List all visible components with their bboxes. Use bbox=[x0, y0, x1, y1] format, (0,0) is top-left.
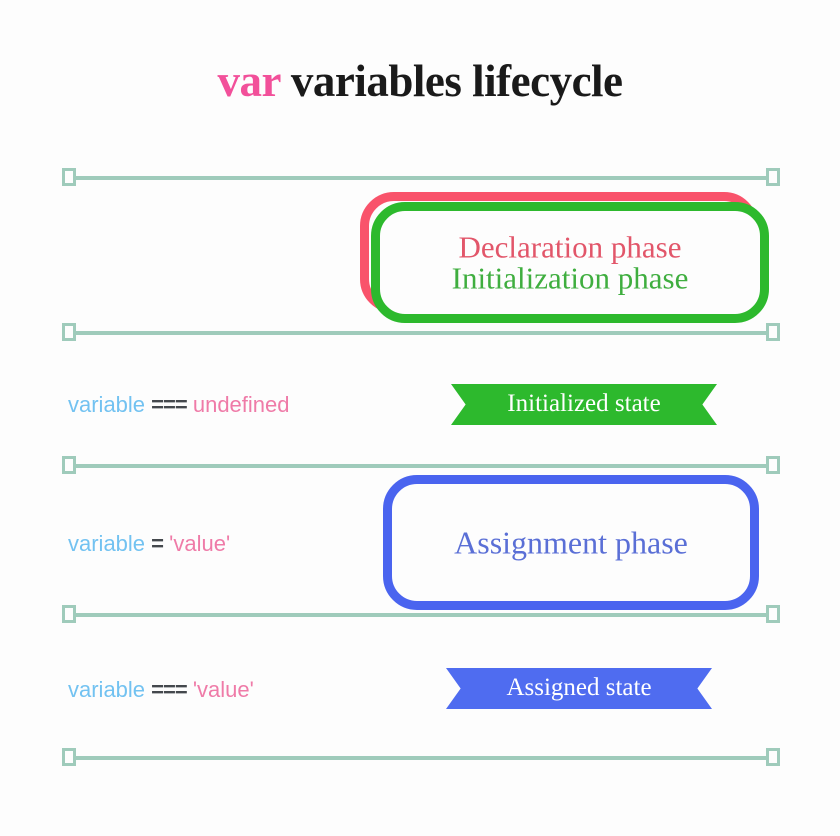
initialization-phase-label: Initialization phase bbox=[380, 263, 760, 295]
rail-line bbox=[71, 613, 771, 617]
banner-label: Assigned state bbox=[506, 674, 651, 704]
expression-undefined-check: variable === undefined bbox=[68, 392, 290, 418]
assignment-phase-box[interactable]: Assignment phase bbox=[383, 475, 759, 610]
rail-cap-right bbox=[766, 323, 780, 341]
code-operator: === bbox=[151, 677, 187, 702]
rail-cap-left bbox=[62, 748, 76, 766]
code-value: undefined bbox=[193, 392, 290, 417]
initialization-phase-box[interactable]: Declaration phase Initialization phase bbox=[371, 202, 769, 323]
rail-cap-left bbox=[62, 605, 76, 623]
title-keyword: var bbox=[217, 56, 280, 106]
page-title: var variables lifecycle bbox=[0, 55, 840, 107]
rail-line bbox=[71, 464, 771, 468]
banner-initialized-state[interactable]: Initialized state bbox=[451, 384, 717, 425]
banner-assigned-state[interactable]: Assigned state bbox=[446, 668, 712, 709]
rail-line bbox=[71, 331, 771, 335]
rail-bottom bbox=[62, 748, 780, 768]
code-variable: variable bbox=[68, 392, 145, 417]
code-variable: variable bbox=[68, 677, 145, 702]
code-value: 'value' bbox=[193, 677, 254, 702]
diagram-canvas: var variables lifecycle Declaration phas bbox=[0, 0, 840, 836]
code-variable: variable bbox=[68, 531, 145, 556]
rail-cap-left bbox=[62, 323, 76, 341]
declaration-initialization-labels: Declaration phase Initialization phase bbox=[380, 231, 760, 294]
declaration-phase-label: Declaration phase bbox=[380, 231, 760, 263]
expression-assigned-check: variable === 'value' bbox=[68, 677, 254, 703]
rail-before-assignment bbox=[62, 456, 780, 476]
rail-cap-right bbox=[766, 456, 780, 474]
banner-label: Initialized state bbox=[507, 390, 660, 420]
rail-top bbox=[62, 168, 780, 188]
code-operator: === bbox=[151, 392, 187, 417]
assignment-phase-label: Assignment phase bbox=[392, 526, 750, 559]
rail-cap-left bbox=[62, 168, 76, 186]
rail-line bbox=[71, 176, 771, 180]
code-value: 'value' bbox=[169, 531, 230, 556]
title-rest: variables lifecycle bbox=[280, 56, 622, 106]
code-operator: = bbox=[151, 531, 163, 556]
declaration-initialization-group: Declaration phase Initialization phase bbox=[0, 0, 840, 836]
assignment-phase-labels: Assignment phase bbox=[392, 526, 750, 559]
rail-cap-right bbox=[766, 605, 780, 623]
rail-cap-right bbox=[766, 168, 780, 186]
rail-after-declaration bbox=[62, 323, 780, 343]
declaration-phase-box[interactable] bbox=[360, 192, 758, 313]
rail-cap-right bbox=[766, 748, 780, 766]
rail-line bbox=[71, 756, 771, 760]
rail-cap-left bbox=[62, 456, 76, 474]
expression-assignment-statement: variable = 'value' bbox=[68, 531, 230, 557]
